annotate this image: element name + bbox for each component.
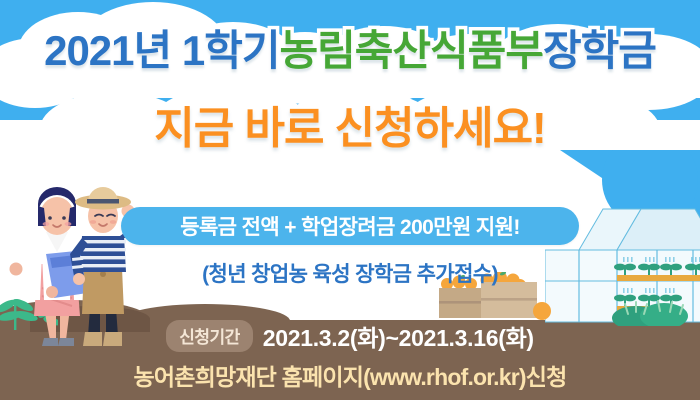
scholarship-promo-banner: 2021년 1학기 농림축산식품부 장학금 지금 바로 신청하세요! 등록금 전… <box>0 0 700 400</box>
application-site-line: 농어촌희망재단 홈페이지(www.rhof.or.kr)신청 <box>0 358 700 392</box>
headline-segment-ministry: 농림축산식품부 <box>279 30 542 72</box>
subtitle-text: 지금 바로 신청하세요! <box>154 107 545 151</box>
benefit-highlight-text: 등록금 전액 + 학업장려금 200만원 지원! <box>180 211 520 241</box>
benefit-highlight-pill: 등록금 전액 + 학업장려금 200만원 지원! <box>121 207 579 245</box>
status-badge: 신청기간 <box>166 320 253 352</box>
headline-segment-scholarship: 장학금 <box>543 30 656 72</box>
application-period-row: 신청기간 2021.3.2(화)~2021.3.16(화) <box>0 319 700 353</box>
additional-note: (청년 창업농 육성 장학금 추가접수) <box>0 258 700 288</box>
subtitle: 지금 바로 신청하세요! <box>0 107 700 151</box>
page-title: 2021년 1학기 농림축산식품부 장학금 <box>0 30 700 72</box>
headline-segment-term: 2021년 1학기 <box>44 30 279 72</box>
application-period-value: 2021.3.2(화)~2021.3.16(화) <box>263 319 534 353</box>
